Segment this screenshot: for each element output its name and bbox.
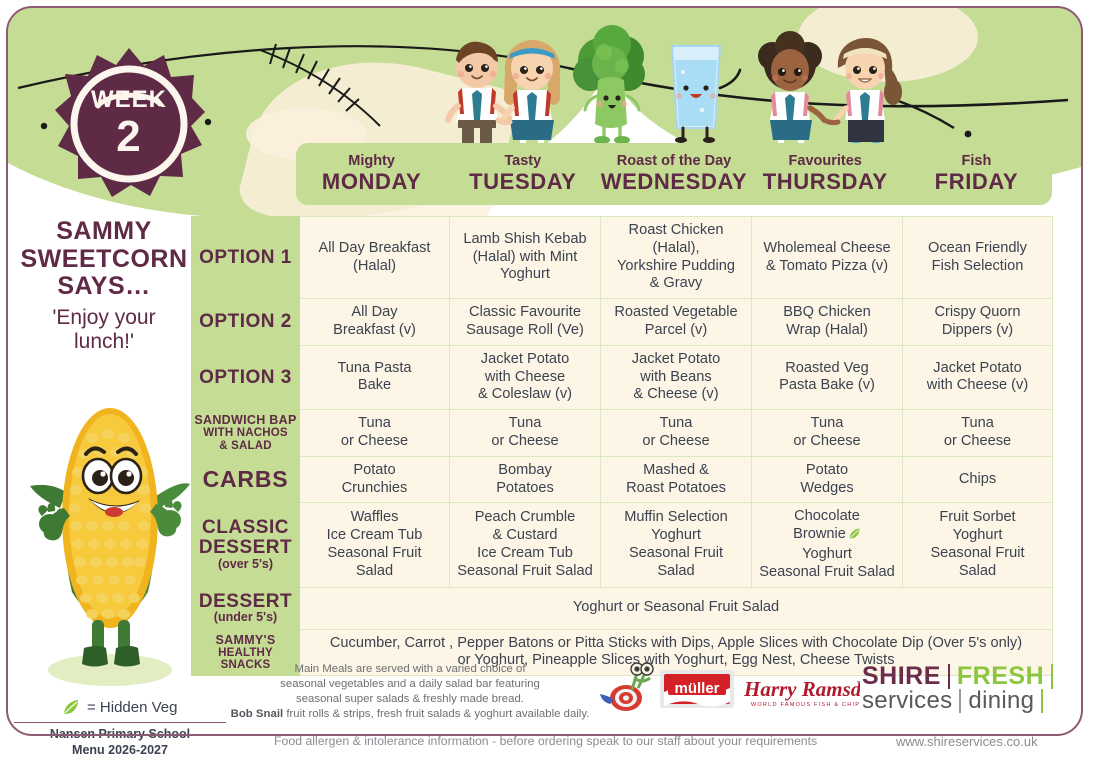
menu-cell: All Day Breakfast(Halal) bbox=[300, 217, 450, 299]
row-label-line: CARBS bbox=[194, 467, 297, 491]
menu-cell: Roasted VegetableParcel (v) bbox=[601, 299, 752, 346]
meal-note: Main Meals are served with a varied choi… bbox=[222, 662, 598, 723]
muller-logo: müller bbox=[660, 670, 734, 708]
menu-item-line: Jacket Potato bbox=[605, 351, 747, 369]
row-label-line: SANDWICH BAP bbox=[194, 414, 297, 427]
menu-item-line: or Cheese bbox=[304, 433, 445, 451]
menu-item-line: Fish Selection bbox=[907, 258, 1048, 276]
menu-cell: Jacket Potatowith Cheese& Coleslaw (v) bbox=[450, 345, 601, 409]
menu-item-line: & Cheese (v) bbox=[605, 386, 747, 404]
menu-item-line: Salad bbox=[304, 563, 445, 581]
menu-item-line: Salad bbox=[605, 563, 747, 581]
menu-cell: Tunaor Cheese bbox=[903, 410, 1053, 457]
menu-row: DESSERT(under 5's)Yoghurt or Seasonal Fr… bbox=[192, 587, 1053, 629]
menu-item-line: Bake bbox=[304, 377, 445, 395]
menu-item-line: Jacket Potato bbox=[907, 360, 1048, 378]
row-label-line: & SALAD bbox=[194, 440, 297, 452]
bob-snail-logo bbox=[600, 663, 653, 711]
menu-item-line: Tuna bbox=[756, 415, 898, 433]
menu-item-line: Yoghurt or Seasonal Fruit Salad bbox=[304, 599, 1048, 617]
menu-cell: Lamb Shish Kebab(Halal) with MintYoghurt bbox=[450, 217, 601, 299]
menu-item-line: Sausage Roll (Ve) bbox=[454, 322, 596, 340]
shire-divider-2 bbox=[1051, 664, 1053, 689]
menu-cell-full-width: Yoghurt or Seasonal Fruit Salad bbox=[300, 587, 1053, 629]
week-badge: WEEK 2 bbox=[52, 46, 206, 200]
services-word: services bbox=[862, 689, 952, 713]
day-header-thursday: Favourites THURSDAY bbox=[750, 143, 901, 205]
menu-row: CLASSICDESSERT(over 5's)WafflesIce Cream… bbox=[192, 503, 1053, 587]
fresh-word: FRESH bbox=[957, 664, 1044, 689]
leaf-icon bbox=[62, 698, 80, 716]
menu-cell: BombayPotatoes bbox=[450, 456, 601, 503]
row-label: OPTION 3 bbox=[192, 345, 300, 409]
leaf-icon bbox=[848, 527, 861, 546]
menu-item-line: & Gravy bbox=[605, 275, 747, 293]
svg-text:Harry Ramsden's: Harry Ramsden's bbox=[743, 677, 860, 701]
shire-services-logo: SHIRE FRESH services dining bbox=[862, 664, 1060, 713]
menu-item-line: Roasted Veg bbox=[756, 360, 898, 378]
menu-cell: Peach Crumble& CustardIce Cream TubSeaso… bbox=[450, 503, 601, 587]
menu-item-line: Parcel (v) bbox=[605, 322, 747, 340]
menu-item-line: Yoghurt bbox=[907, 527, 1048, 545]
menu-item-line: Dippers (v) bbox=[907, 322, 1048, 340]
day-sub-wednesday: Roast of the Day bbox=[617, 154, 731, 170]
menu-row: SANDWICH BAPWITH NACHOS& SALADTunaor Che… bbox=[192, 410, 1053, 457]
menu-item-line: BBQ Chicken bbox=[756, 304, 898, 322]
menu-cell: Classic FavouriteSausage Roll (Ve) bbox=[450, 299, 601, 346]
menu-cell: Tunaor Cheese bbox=[300, 410, 450, 457]
menu-cell: Jacket Potatowith Beans& Cheese (v) bbox=[601, 345, 752, 409]
row-label: CARBS bbox=[192, 456, 300, 503]
menu-item-line: with Cheese (v) bbox=[907, 377, 1048, 395]
shire-word: SHIRE bbox=[862, 664, 941, 689]
menu-item-line: & Tomato Pizza (v) bbox=[756, 258, 898, 276]
menu-item-line: Potatoes bbox=[454, 480, 596, 498]
menu-item-line: Seasonal Fruit Salad bbox=[756, 564, 898, 582]
menu-item-line: Crunchies bbox=[304, 480, 445, 498]
menu-cell: Roasted VegPasta Bake (v) bbox=[752, 345, 903, 409]
menu-item-line: Tuna Pasta bbox=[304, 360, 445, 378]
menu-item-line: Bombay bbox=[454, 462, 596, 480]
school-name: Nansen Primary School bbox=[14, 726, 226, 742]
shire-divider-3 bbox=[959, 689, 961, 713]
menu-cell: Tunaor Cheese bbox=[752, 410, 903, 457]
menu-item-line: Tuna bbox=[454, 415, 596, 433]
day-main-tuesday: TUESDAY bbox=[469, 170, 576, 194]
menu-item-line: Potato bbox=[756, 462, 898, 480]
menu-item-line: (Halal) bbox=[304, 258, 445, 276]
menu-item-line: with Cheese bbox=[454, 369, 596, 387]
day-header-tuesday: Tasty TUESDAY bbox=[447, 143, 598, 205]
row-label: SANDWICH BAPWITH NACHOS& SALAD bbox=[192, 410, 300, 457]
day-sub-friday: Fish bbox=[962, 154, 992, 170]
menu-row: OPTION 3Tuna PastaBakeJacket Potatowith … bbox=[192, 345, 1053, 409]
menu-item-line: or Cheese bbox=[454, 433, 596, 451]
menu-cell: BBQ ChickenWrap (Halal) bbox=[752, 299, 903, 346]
menu-item-line: Ice Cream Tub bbox=[454, 545, 596, 563]
menu-item-line: Cucumber, Carrot , Pepper Batons or Pitt… bbox=[304, 635, 1048, 653]
menu-cell: Ocean FriendlyFish Selection bbox=[903, 217, 1053, 299]
day-sub-thursday: Favourites bbox=[789, 154, 862, 170]
row-label-line: OPTION 1 bbox=[194, 248, 297, 268]
menu-cell: Tunaor Cheese bbox=[601, 410, 752, 457]
menu-table: OPTION 1All Day Breakfast(Halal)Lamb Shi… bbox=[191, 216, 1053, 676]
day-header-friday: Fish FRIDAY bbox=[901, 143, 1052, 205]
day-main-thursday: THURSDAY bbox=[763, 170, 888, 194]
menu-item-line: Muffin Selection bbox=[605, 509, 747, 527]
menu-cell: Tunaor Cheese bbox=[450, 410, 601, 457]
menu-item-line: with Beans bbox=[605, 369, 747, 387]
row-label-line: (under 5's) bbox=[194, 611, 297, 624]
menu-cell: ChocolateBrownieYoghurtSeasonal Fruit Sa… bbox=[752, 503, 903, 587]
menu-item-line: Ocean Friendly bbox=[907, 240, 1048, 258]
menu-item-line: Crispy Quorn bbox=[907, 304, 1048, 322]
allergen-note: Food allergen & intolerance information … bbox=[274, 734, 817, 748]
menu-poster: WEEK 2 bbox=[0, 0, 1101, 764]
bob-snail-brand: Bob Snail bbox=[231, 708, 284, 720]
sweetcorn-mascot bbox=[30, 398, 190, 688]
row-label-line: (over 5's) bbox=[194, 558, 297, 571]
day-main-wednesday: WEDNESDAY bbox=[601, 170, 747, 194]
day-header-wednesday: Roast of the Day WEDNESDAY bbox=[598, 143, 749, 205]
row-label: OPTION 1 bbox=[192, 217, 300, 299]
menu-item-line: Seasonal Fruit bbox=[605, 545, 747, 563]
menu-item-line: Wedges bbox=[756, 480, 898, 498]
partner-logos: müller Harry Ramsden's WORLD FAMOUS FISH… bbox=[598, 662, 860, 716]
school-info: Nansen Primary School Menu 2026-2027 bbox=[14, 726, 226, 759]
menu-item-line: (Halal) with Mint bbox=[454, 249, 596, 267]
menu-item-line: All Day bbox=[304, 304, 445, 322]
day-header-bar: Mighty MONDAY Tasty TUESDAY Roast of the… bbox=[296, 143, 1052, 205]
menu-item-line: All Day Breakfast bbox=[304, 240, 445, 258]
menu-item-line: Fruit Sorbet bbox=[907, 509, 1048, 527]
week-label: WEEK bbox=[52, 86, 206, 114]
menu-cell: Roast Chicken (Halal),Yorkshire Pudding&… bbox=[601, 217, 752, 299]
row-label-line: SAMMY'S bbox=[194, 634, 297, 647]
menu-item-line: Brownie bbox=[756, 526, 898, 546]
meal-note-line2: seasonal vegetables and a daily salad ba… bbox=[222, 677, 598, 692]
sammy-says-block: SAMMY SWEETCORN SAYS… 'Enjoy your lunch!… bbox=[16, 218, 192, 354]
menu-item-line: Breakfast (v) bbox=[304, 322, 445, 340]
menu-item-line: & Coleslaw (v) bbox=[454, 386, 596, 404]
menu-item-line: Tuna bbox=[907, 415, 1048, 433]
day-sub-tuesday: Tasty bbox=[504, 154, 541, 170]
menu-item-line: Chocolate bbox=[756, 508, 898, 526]
menu-item-line: Roasted Vegetable bbox=[605, 304, 747, 322]
row-label-line: DESSERT bbox=[194, 538, 297, 558]
day-sub-monday: Mighty bbox=[348, 154, 395, 170]
shire-divider-1 bbox=[948, 664, 950, 689]
menu-cell: Crispy QuornDippers (v) bbox=[903, 299, 1053, 346]
menu-item-line: Wrap (Halal) bbox=[756, 322, 898, 340]
meal-note-line4-text: fruit rolls & strips, fresh fruit salads… bbox=[283, 708, 589, 720]
menu-item-line: Chips bbox=[907, 471, 1048, 489]
sammy-quote-line2: lunch!' bbox=[16, 330, 192, 354]
meal-note-line3: seasonal super salads & freshly made bre… bbox=[222, 692, 598, 707]
sammy-says-line1: SAMMY bbox=[16, 218, 192, 246]
menu-cell: Wholemeal Cheese& Tomato Pizza (v) bbox=[752, 217, 903, 299]
hidden-veg-legend: = Hidden Veg bbox=[62, 698, 178, 716]
menu-cell: PotatoWedges bbox=[752, 456, 903, 503]
menu-item-line: Yorkshire Pudding bbox=[605, 258, 747, 276]
week-number: 2 bbox=[52, 112, 206, 162]
menu-item-line: Tuna bbox=[304, 415, 445, 433]
menu-cell: Jacket Potatowith Cheese (v) bbox=[903, 345, 1053, 409]
menu-item-line: Waffles bbox=[304, 509, 445, 527]
day-main-monday: MONDAY bbox=[322, 170, 421, 194]
menu-item-line: Mashed & bbox=[605, 462, 747, 480]
row-label-line: WITH NACHOS bbox=[194, 427, 297, 439]
meal-note-line1: Main Meals are served with a varied choi… bbox=[222, 662, 598, 677]
menu-item-line: or Cheese bbox=[605, 433, 747, 451]
menu-row: OPTION 2All DayBreakfast (v)Classic Favo… bbox=[192, 299, 1053, 346]
menu-row: OPTION 1All Day Breakfast(Halal)Lamb Shi… bbox=[192, 217, 1053, 299]
menu-cell: Chips bbox=[903, 456, 1053, 503]
svg-text:müller: müller bbox=[674, 680, 719, 697]
row-label-line: CLASSIC bbox=[194, 518, 297, 538]
row-label: OPTION 2 bbox=[192, 299, 300, 346]
row-label-line: DESSERT bbox=[194, 592, 297, 612]
sammy-says-line3: SAYS… bbox=[16, 273, 192, 301]
website-link[interactable]: www.shireservices.co.uk bbox=[896, 734, 1038, 749]
sammy-quote-line1: 'Enjoy your bbox=[16, 306, 192, 330]
menu-item-line: Potato bbox=[304, 462, 445, 480]
meal-note-line4: Bob Snail fruit rolls & strips, fresh fr… bbox=[222, 707, 598, 722]
shire-divider-4 bbox=[1041, 689, 1043, 713]
menu-item-line: Yoghurt bbox=[454, 266, 596, 284]
sammy-says-line2: SWEETCORN bbox=[16, 246, 192, 274]
menu-item-line: or Cheese bbox=[756, 433, 898, 451]
menu-cell: PotatoCrunchies bbox=[300, 456, 450, 503]
menu-item-line: Wholemeal Cheese bbox=[756, 240, 898, 258]
svg-text:WORLD FAMOUS FISH & CHIPS: WORLD FAMOUS FISH & CHIPS bbox=[751, 702, 860, 708]
menu-cell: Fruit SorbetYoghurtSeasonal FruitSalad bbox=[903, 503, 1053, 587]
menu-row: CARBSPotatoCrunchiesBombayPotatoesMashed… bbox=[192, 456, 1053, 503]
day-main-friday: FRIDAY bbox=[935, 170, 1018, 194]
harry-ramsdens-logo: Harry Ramsden's WORLD FAMOUS FISH & CHIP… bbox=[743, 677, 860, 708]
dining-word: dining bbox=[968, 689, 1034, 713]
legend-text: = Hidden Veg bbox=[87, 699, 178, 716]
menu-item-line: Seasonal Fruit Salad bbox=[454, 563, 596, 581]
menu-item-line: Ice Cream Tub bbox=[304, 527, 445, 545]
menu-cell: Muffin SelectionYoghurtSeasonal FruitSal… bbox=[601, 503, 752, 587]
menu-item-line: Roast Potatoes bbox=[605, 480, 747, 498]
menu-item-line: Peach Crumble bbox=[454, 509, 596, 527]
menu-cell: Mashed &Roast Potatoes bbox=[601, 456, 752, 503]
menu-item-line: Lamb Shish Kebab bbox=[454, 231, 596, 249]
school-menu-year: Menu 2026-2027 bbox=[14, 742, 226, 758]
menu-item-line: Seasonal Fruit bbox=[304, 545, 445, 563]
menu-item-line: Seasonal Fruit bbox=[907, 545, 1048, 563]
menu-item-line: or Cheese bbox=[907, 433, 1048, 451]
menu-item-line: Pasta Bake (v) bbox=[756, 377, 898, 395]
school-divider bbox=[14, 722, 226, 723]
row-label-line: OPTION 3 bbox=[194, 368, 297, 388]
menu-item-line: Tuna bbox=[605, 415, 747, 433]
menu-item-line: Jacket Potato bbox=[454, 351, 596, 369]
day-header-monday: Mighty MONDAY bbox=[296, 143, 447, 205]
menu-item-line: Roast Chicken (Halal), bbox=[605, 222, 747, 258]
menu-cell: WafflesIce Cream TubSeasonal FruitSalad bbox=[300, 503, 450, 587]
menu-item-line: & Custard bbox=[454, 527, 596, 545]
menu-item-line: Salad bbox=[907, 563, 1048, 581]
menu-cell: All DayBreakfast (v) bbox=[300, 299, 450, 346]
row-label: CLASSICDESSERT(over 5's) bbox=[192, 503, 300, 587]
menu-item-line: Classic Favourite bbox=[454, 304, 596, 322]
menu-item-line: Yoghurt bbox=[756, 546, 898, 564]
menu-item-line: Yoghurt bbox=[605, 527, 747, 545]
menu-cell: Tuna PastaBake bbox=[300, 345, 450, 409]
row-label-line: OPTION 2 bbox=[194, 312, 297, 332]
row-label: DESSERT(under 5's) bbox=[192, 587, 300, 629]
